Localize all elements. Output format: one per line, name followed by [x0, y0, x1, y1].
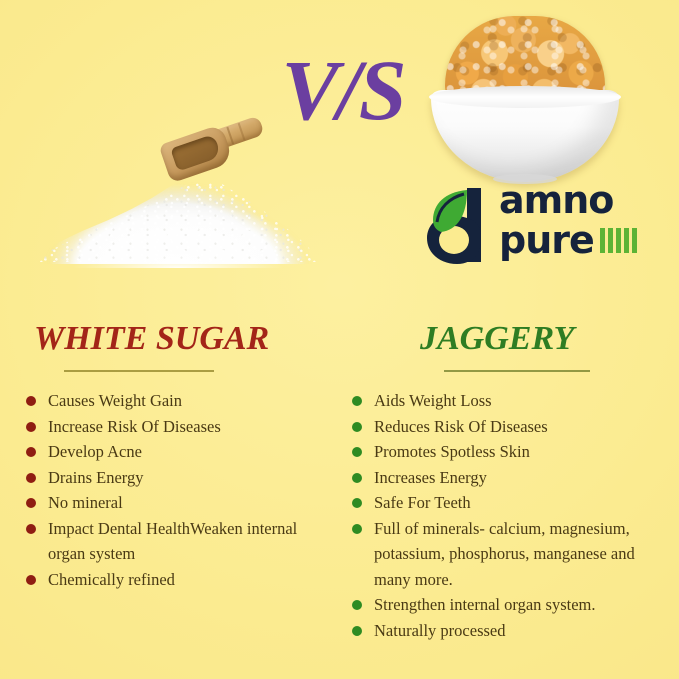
brand-name-line-2-row: pure	[499, 220, 639, 260]
list-item-label: Promotes Spotless Skin	[374, 442, 530, 461]
bullet-dot-icon	[26, 473, 36, 483]
scoop-cavity	[170, 134, 221, 172]
bullet-dot-icon	[26, 447, 36, 457]
list-item-label: Chemically refined	[48, 570, 175, 589]
list-item: Causes Weight Gain	[22, 388, 322, 414]
list-item: Increase Risk Of Diseases	[22, 414, 322, 440]
list-item: Strengthen internal organ system.	[348, 592, 668, 618]
hero-section: V/S amno pure	[0, 0, 679, 300]
scoop-bowl	[159, 124, 234, 183]
brand-wordmark: amno pure	[499, 180, 639, 266]
list-item-label: Causes Weight Gain	[48, 391, 182, 410]
list-item-label: Increase Risk Of Diseases	[48, 417, 221, 436]
list-item: Impact Dental HealthWeaken internal orga…	[22, 516, 322, 567]
list-item: Safe For Teeth	[348, 490, 668, 516]
comparison-columns: WHITE SUGAR Causes Weight Gain Increase …	[0, 300, 679, 679]
title-divider-jaggery	[444, 370, 590, 372]
bullet-dot-icon	[26, 422, 36, 432]
list-item: Naturally processed	[348, 618, 668, 644]
list-item-label: Drains Energy	[48, 468, 143, 487]
list-item: Drains Energy	[22, 465, 322, 491]
list-item-label: Strengthen internal organ system.	[374, 595, 596, 614]
list-item: Increases Energy	[348, 465, 668, 491]
bullet-dot-icon	[352, 473, 362, 483]
column-title-white-sugar: WHITE SUGAR	[22, 318, 322, 360]
bullet-dot-icon	[352, 626, 362, 636]
brand-name-line-1: amno	[499, 180, 639, 220]
list-item-label: Full of minerals- calcium, magnesium, po…	[374, 519, 635, 589]
list-item: Develop Acne	[22, 439, 322, 465]
bullet-dot-icon	[352, 524, 362, 534]
list-item: No mineral	[22, 490, 322, 516]
sugar-base-highlight	[35, 248, 321, 268]
jaggery-list: Aids Weight Loss Reduces Risk Of Disease…	[348, 388, 668, 643]
white-sugar-list: Causes Weight Gain Increase Risk Of Dise…	[22, 388, 322, 592]
list-item-label: Safe For Teeth	[374, 493, 471, 512]
bullet-dot-icon	[352, 422, 362, 432]
white-sugar-pile-image	[33, 118, 323, 268]
versus-mark: V/S	[268, 42, 418, 138]
bullet-dot-icon	[26, 524, 36, 534]
list-item-label: No mineral	[48, 493, 123, 512]
brand-bars-icon	[600, 228, 637, 253]
bullet-dot-icon	[26, 575, 36, 585]
list-item: Aids Weight Loss	[348, 388, 668, 414]
leaf-a-monogram-icon	[423, 178, 503, 266]
column-jaggery: JAGGERY Aids Weight Loss Reduces Risk Of…	[348, 300, 668, 643]
comparison-infographic: V/S amno pure	[0, 0, 679, 679]
column-white-sugar: WHITE SUGAR Causes Weight Gain Increase …	[22, 300, 322, 592]
bullet-dot-icon	[352, 600, 362, 610]
list-item: Reduces Risk Of Diseases	[348, 414, 668, 440]
list-item-label: Develop Acne	[48, 442, 142, 461]
bowl-rim	[429, 86, 621, 108]
list-item-label: Naturally processed	[374, 621, 506, 640]
bullet-dot-icon	[26, 498, 36, 508]
list-item-label: Reduces Risk Of Diseases	[374, 417, 548, 436]
title-divider-white-sugar	[64, 370, 214, 372]
jaggery-bowl-image	[425, 16, 625, 186]
brand-logo: amno pure	[423, 176, 638, 268]
brand-name-line-2: pure	[499, 220, 594, 260]
list-item: Promotes Spotless Skin	[348, 439, 668, 465]
list-item: Full of minerals- calcium, magnesium, po…	[348, 516, 668, 593]
list-item-label: Impact Dental HealthWeaken internal orga…	[48, 519, 297, 564]
bullet-dot-icon	[352, 498, 362, 508]
list-item: Chemically refined	[22, 567, 322, 593]
list-item-label: Aids Weight Loss	[374, 391, 492, 410]
bullet-dot-icon	[352, 447, 362, 457]
bullet-dot-icon	[352, 396, 362, 406]
list-item-label: Increases Energy	[374, 468, 487, 487]
column-title-jaggery: JAGGERY	[348, 318, 668, 360]
bullet-dot-icon	[26, 396, 36, 406]
